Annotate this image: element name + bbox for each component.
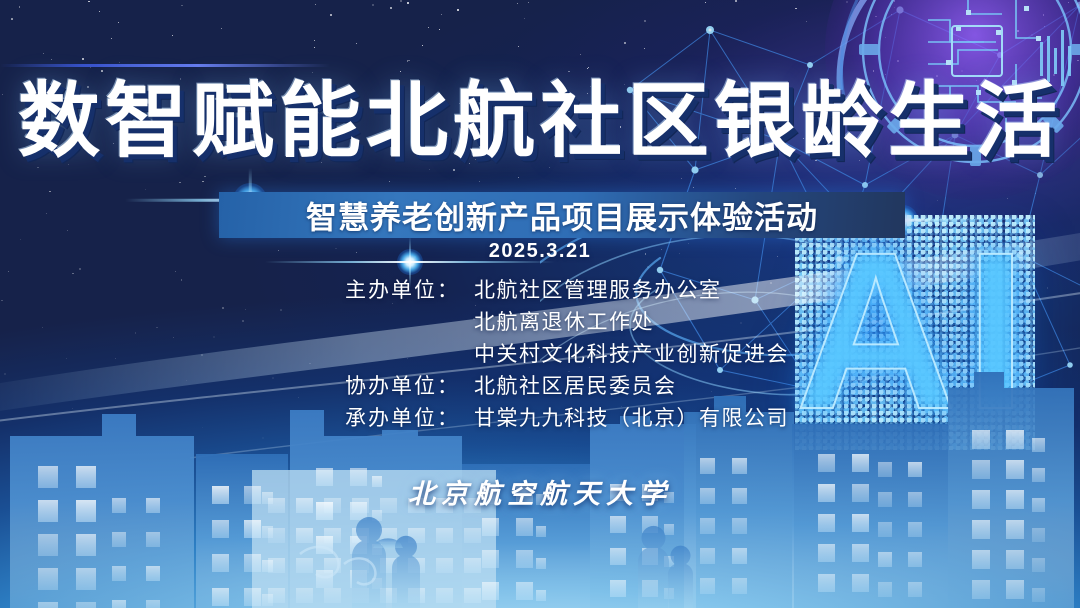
organization-value: 中关村文化科技产业创新促进会 xyxy=(460,338,789,368)
organization-value: 甘棠九九科技（北京）有限公司 xyxy=(460,402,789,432)
organization-label: 主办单位： xyxy=(0,274,460,304)
university-name: 北京航空航天大学 xyxy=(0,472,1080,511)
organization-row: 主办单位：北航社区管理服务办公室 xyxy=(0,274,820,306)
subtitle-banner: 智慧养老创新产品项目展示体验活动 xyxy=(219,192,905,238)
poster-canvas: AI AI xyxy=(0,0,1080,608)
organizations-list: 主办单位：北航社区管理服务办公室北航离退休工作处中关村文化科技产业创新促进会协办… xyxy=(0,274,820,434)
organization-value: 北航社区管理服务办公室 xyxy=(460,274,722,304)
organization-row: 承办单位：甘棠九九科技（北京）有限公司 xyxy=(0,402,820,434)
organization-label: 承办单位： xyxy=(0,402,460,432)
organization-row: 协办单位：北航社区居民委员会 xyxy=(0,370,820,402)
subtitle-text: 智慧养老创新产品项目展示体验活动 xyxy=(219,193,905,238)
organization-row: 北航离退休工作处 xyxy=(0,306,820,338)
page-title: 数智赋能北航社区银龄生活 xyxy=(0,54,1080,173)
organization-value: 北航社区居民委员会 xyxy=(460,370,677,400)
event-date: 2025.3.21 xyxy=(0,240,1080,263)
people-silhouette-icon xyxy=(352,517,693,608)
organization-row: 中关村文化科技产业创新促进会 xyxy=(0,338,820,370)
organization-value: 北航离退休工作处 xyxy=(460,306,654,336)
organization-label: 协办单位： xyxy=(0,370,460,400)
